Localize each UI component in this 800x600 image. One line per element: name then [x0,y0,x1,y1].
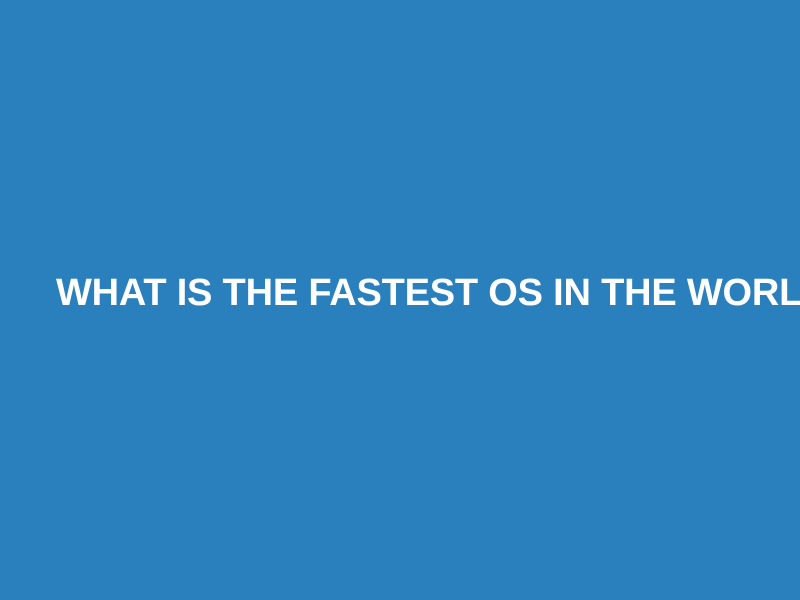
page-title: What is the fastest OS in the world? [56,272,756,314]
hero-banner: What is the fastest OS in the world? [0,0,800,600]
hero-title-container: What is the fastest OS in the world? [56,272,756,314]
